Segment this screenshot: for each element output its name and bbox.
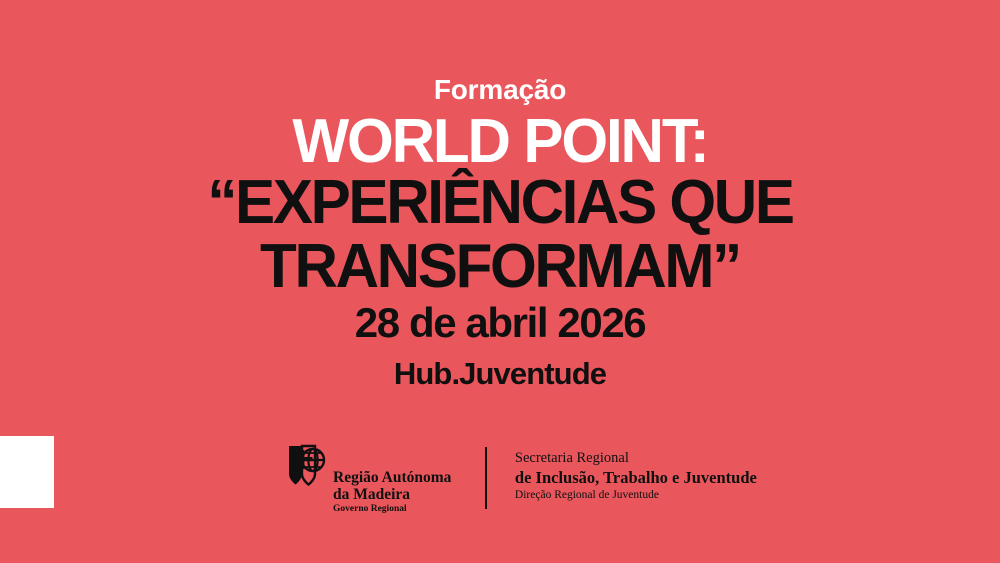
eyebrow-label: Formação [0, 74, 1000, 106]
secretariat-text: Secretaria Regional de Inclusão, Trabalh… [515, 443, 757, 502]
headline-block: Formação WORLD POINT: “EXPERIÊNCIAS QUE … [0, 74, 1000, 298]
event-meta-block: 28 de abril 2026 Hub.Juventude [0, 300, 1000, 392]
erasmus-plus-tagline-line-1: as, [0, 474, 54, 485]
madeira-government-logo: Região Autónoma da Madeira Governo Regio… [286, 443, 451, 515]
secretariat-line-2: de Inclusão, Trabalho e Juventude [515, 468, 757, 487]
erasmus-plus-logo-inner: us+ as, ntes. [0, 445, 54, 500]
madeira-coat-of-arms-icon [286, 444, 326, 486]
poster-canvas: Formação WORLD POINT: “EXPERIÊNCIAS QUE … [0, 0, 1000, 563]
event-venue: Hub.Juventude [0, 356, 1000, 392]
erasmus-plus-logo-card: us+ as, ntes. [0, 436, 54, 508]
secretariat-line-3: Direção Regional de Juventude [515, 488, 757, 502]
gov-line-3: Governo Regional [333, 504, 451, 515]
gov-line-2: da Madeira [333, 486, 451, 503]
erasmus-plus-tagline-line-2: ntes. [0, 489, 54, 500]
title-quote-line-2: TRANSFORMAM” [15, 236, 985, 298]
event-date: 28 de abril 2026 [0, 300, 1000, 346]
gov-line-1: Região Autónoma [333, 469, 451, 486]
page-title: WORLD POINT: [15, 112, 985, 172]
secretariat-line-1: Secretaria Regional [515, 450, 757, 467]
title-quote-line-1: “EXPERIÊNCIAS QUE [15, 172, 985, 234]
institutional-lockup: Região Autónoma da Madeira Governo Regio… [286, 443, 757, 515]
madeira-government-text: Região Autónoma da Madeira Governo Regio… [333, 443, 451, 515]
erasmus-plus-wordmark: us+ [0, 445, 54, 470]
lockup-divider [485, 447, 487, 509]
